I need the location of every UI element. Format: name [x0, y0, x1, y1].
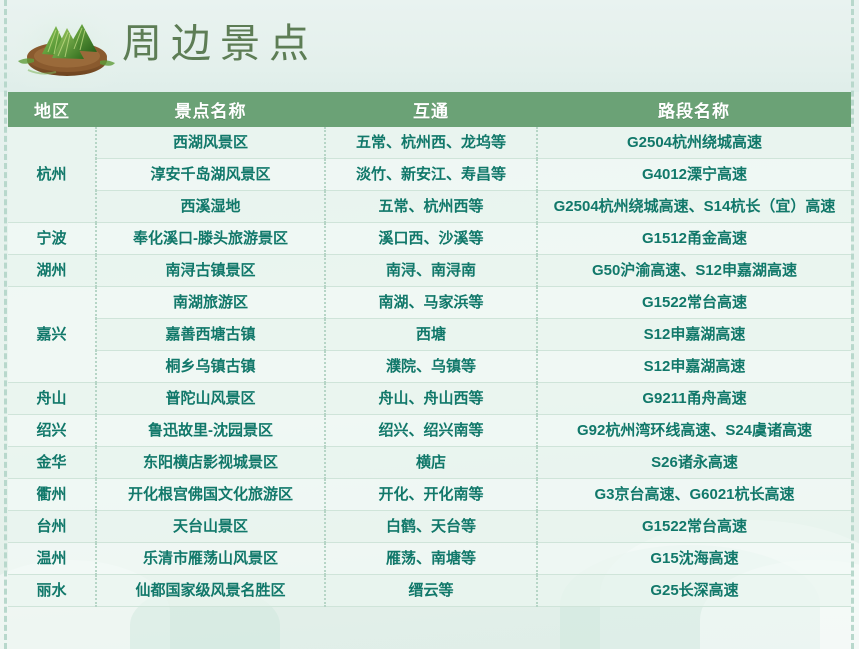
cell-road: G2504杭州绕城高速: [537, 127, 851, 159]
cell-spot: 嘉善西塘古镇: [96, 319, 325, 351]
cell-interchange: 缙云等: [325, 575, 537, 607]
cell-road: G2504杭州绕城高速、S14杭长（宜）高速: [537, 191, 851, 223]
table-row: 丽水仙都国家级风景名胜区缙云等G25长深高速: [8, 575, 851, 607]
table-row: 杭州西湖风景区五常、杭州西、龙坞等G2504杭州绕城高速: [8, 127, 851, 159]
cell-road: G1522常台高速: [537, 511, 851, 543]
cell-interchange: 溪口西、沙溪等: [325, 223, 537, 255]
cell-region: 衢州: [8, 479, 96, 511]
cell-spot: 奉化溪口-滕头旅游景区: [96, 223, 325, 255]
cell-region: 温州: [8, 543, 96, 575]
cell-road: G92杭州湾环线高速、S24虞诸高速: [537, 415, 851, 447]
cell-road: G25长深高速: [537, 575, 851, 607]
cell-interchange: 淡竹、新安江、寿昌等: [325, 159, 537, 191]
cell-spot: 桐乡乌镇古镇: [96, 351, 325, 383]
cell-spot: 普陀山风景区: [96, 383, 325, 415]
cell-interchange: 西塘: [325, 319, 537, 351]
column-header-interchange: 互通: [325, 92, 537, 127]
cell-road: G3京台高速、G6021杭长高速: [537, 479, 851, 511]
page-frame-left: [4, 0, 7, 649]
page-frame-right: [851, 0, 854, 649]
cell-region: 嘉兴: [8, 287, 96, 383]
cell-interchange: 濮院、乌镇等: [325, 351, 537, 383]
table-body: 杭州西湖风景区五常、杭州西、龙坞等G2504杭州绕城高速淳安千岛湖风景区淡竹、新…: [8, 127, 851, 607]
cell-road: G9211甬舟高速: [537, 383, 851, 415]
cell-road: G1522常台高速: [537, 287, 851, 319]
cell-spot: 西溪湿地: [96, 191, 325, 223]
cell-spot: 西湖风景区: [96, 127, 325, 159]
cell-road: S26诸永高速: [537, 447, 851, 479]
table-header-row: 地区 景点名称 互通 路段名称: [8, 92, 851, 127]
table-row: 绍兴鲁迅故里-沈园景区绍兴、绍兴南等G92杭州湾环线高速、S24虞诸高速: [8, 415, 851, 447]
cell-region: 宁波: [8, 223, 96, 255]
table-row: 温州乐清市雁荡山风景区雁荡、南塘等G15沈海高速: [8, 543, 851, 575]
page-root: 周边景点 地区 景点名称 互通 路段名称 杭州西湖风景区五常、杭州西、龙坞等G2…: [0, 0, 859, 649]
table-row: 衢州开化根宫佛国文化旅游区开化、开化南等G3京台高速、G6021杭长高速: [8, 479, 851, 511]
column-header-spot: 景点名称: [96, 92, 325, 127]
cell-road: G1512甬金高速: [537, 223, 851, 255]
table-row: 淳安千岛湖风景区淡竹、新安江、寿昌等G4012溧宁高速: [8, 159, 851, 191]
page-banner: 周边景点: [0, 0, 859, 92]
zongzi-icon: [12, 4, 120, 88]
cell-spot: 乐清市雁荡山风景区: [96, 543, 325, 575]
cell-road: G15沈海高速: [537, 543, 851, 575]
cell-spot: 鲁迅故里-沈园景区: [96, 415, 325, 447]
cell-interchange: 绍兴、绍兴南等: [325, 415, 537, 447]
table-row: 金华东阳横店影视城景区横店S26诸永高速: [8, 447, 851, 479]
cell-spot: 天台山景区: [96, 511, 325, 543]
cell-interchange: 雁荡、南塘等: [325, 543, 537, 575]
cell-spot: 东阳横店影视城景区: [96, 447, 325, 479]
cell-region: 绍兴: [8, 415, 96, 447]
table-row: 桐乡乌镇古镇濮院、乌镇等S12申嘉湖高速: [8, 351, 851, 383]
cell-interchange: 南浔、南浔南: [325, 255, 537, 287]
cell-region: 丽水: [8, 575, 96, 607]
cell-region: 杭州: [8, 127, 96, 223]
cell-road: S12申嘉湖高速: [537, 319, 851, 351]
table-row: 台州天台山景区白鹤、天台等G1522常台高速: [8, 511, 851, 543]
cell-spot: 淳安千岛湖风景区: [96, 159, 325, 191]
cell-region: 金华: [8, 447, 96, 479]
column-header-road: 路段名称: [537, 92, 851, 127]
cell-region: 舟山: [8, 383, 96, 415]
attractions-table: 地区 景点名称 互通 路段名称 杭州西湖风景区五常、杭州西、龙坞等G2504杭州…: [8, 92, 851, 607]
cell-road: S12申嘉湖高速: [537, 351, 851, 383]
cell-spot: 南湖旅游区: [96, 287, 325, 319]
cell-spot: 开化根宫佛国文化旅游区: [96, 479, 325, 511]
page-title: 周边景点: [122, 20, 318, 68]
cell-region: 湖州: [8, 255, 96, 287]
cell-road: G50沪渝高速、S12申嘉湖高速: [537, 255, 851, 287]
table-row: 宁波奉化溪口-滕头旅游景区溪口西、沙溪等G1512甬金高速: [8, 223, 851, 255]
cell-spot: 仙都国家级风景名胜区: [96, 575, 325, 607]
table-row: 湖州南浔古镇景区南浔、南浔南G50沪渝高速、S12申嘉湖高速: [8, 255, 851, 287]
cell-region: 台州: [8, 511, 96, 543]
cell-interchange: 五常、杭州西、龙坞等: [325, 127, 537, 159]
table-row: 舟山普陀山风景区舟山、舟山西等G9211甬舟高速: [8, 383, 851, 415]
cell-interchange: 白鹤、天台等: [325, 511, 537, 543]
cell-interchange: 开化、开化南等: [325, 479, 537, 511]
table-row: 嘉兴南湖旅游区南湖、马家浜等G1522常台高速: [8, 287, 851, 319]
cell-interchange: 五常、杭州西等: [325, 191, 537, 223]
table-row: 嘉善西塘古镇西塘S12申嘉湖高速: [8, 319, 851, 351]
cell-road: G4012溧宁高速: [537, 159, 851, 191]
cell-interchange: 横店: [325, 447, 537, 479]
cell-interchange: 南湖、马家浜等: [325, 287, 537, 319]
column-header-region: 地区: [8, 92, 96, 127]
cell-spot: 南浔古镇景区: [96, 255, 325, 287]
table-row: 西溪湿地五常、杭州西等G2504杭州绕城高速、S14杭长（宜）高速: [8, 191, 851, 223]
cell-interchange: 舟山、舟山西等: [325, 383, 537, 415]
